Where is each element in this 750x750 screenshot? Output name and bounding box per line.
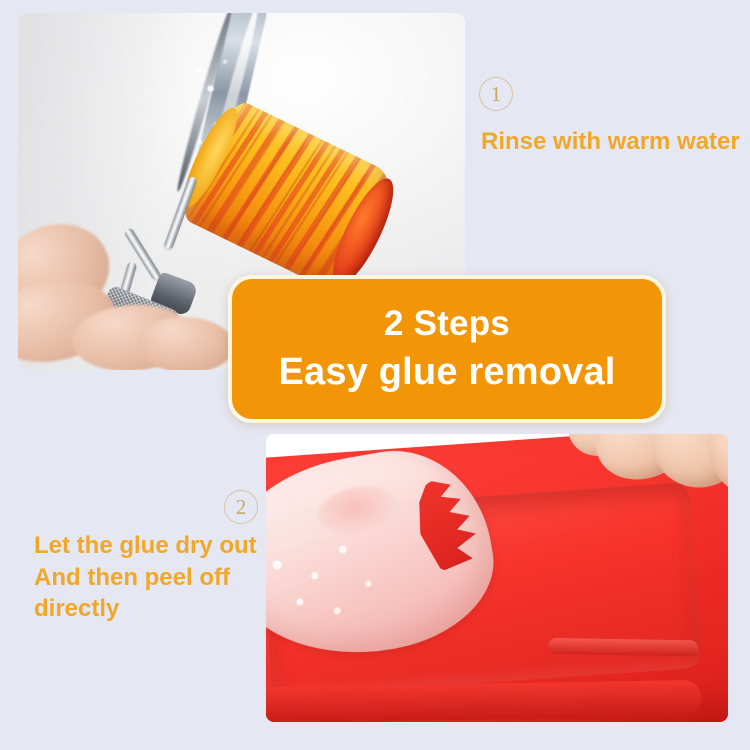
handle-rod-upper (163, 176, 197, 250)
step-1-label: Rinse with warm water (481, 126, 740, 158)
step-2-label-line-3: directly (34, 593, 274, 625)
hand-peeling (562, 434, 728, 553)
tray-rib (548, 638, 698, 657)
headline-banner: 2 Steps Easy glue removal (228, 275, 666, 423)
banner-line-1: 2 Steps (384, 305, 510, 343)
step-2-label-line-2: And then peel off (34, 562, 274, 594)
silicone-paint-tray (266, 434, 728, 722)
step-1-number-badge: 1 (479, 77, 513, 111)
step-2-label-line-1: Let the glue dry out (34, 530, 274, 562)
banner-line-2: Easy glue removal (278, 352, 615, 393)
infographic-canvas: 2 Steps Easy glue removal 1 Rinse with w… (0, 0, 750, 750)
step-2-number-badge: 2 (224, 490, 258, 524)
step-2-label: Let the glue dry out And then peel off d… (34, 530, 274, 625)
peel-photo (266, 434, 728, 722)
tray-front-lip (266, 680, 702, 722)
